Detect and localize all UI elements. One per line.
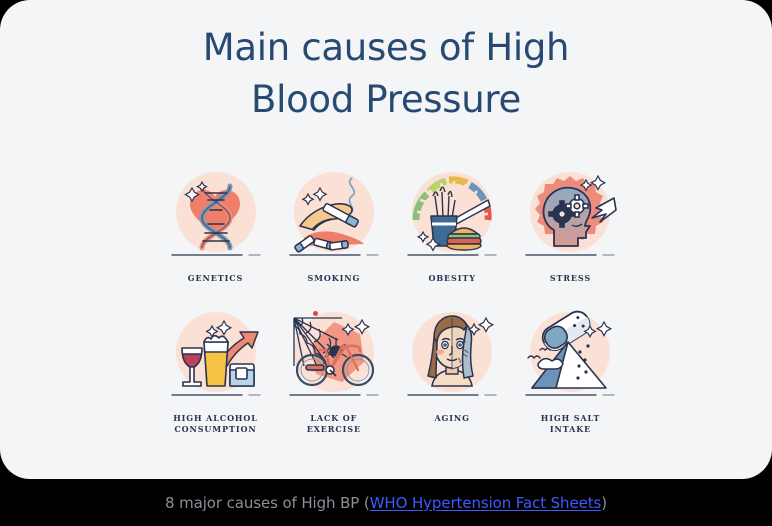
head-gears-bolt-icon <box>522 168 618 264</box>
cause-label: Smoking <box>307 273 360 284</box>
cause-item-smoking[interactable]: Smoking <box>276 168 391 284</box>
cause-label: Obesity <box>429 273 476 284</box>
split-face-age-icon <box>404 308 500 404</box>
causes-row-1: Genetics <box>158 168 628 284</box>
caption-suffix: ) <box>601 494 607 512</box>
caption-prefix: 8 major causes of High BP ( <box>165 494 370 512</box>
ground-line <box>406 391 498 400</box>
cause-item-stress[interactable]: Stress <box>513 168 628 284</box>
dna-heart-icon <box>168 168 264 264</box>
cause-label: High Alcohol Consumption <box>173 413 258 435</box>
ground-line <box>406 251 498 260</box>
cause-item-genetics[interactable]: Genetics <box>158 168 273 284</box>
caption-link[interactable]: WHO Hypertension Fact Sheets <box>370 494 602 512</box>
causes-grid: Genetics <box>158 168 628 435</box>
gauge-fastfood-icon <box>404 168 500 264</box>
salt-shaker-mountain-icon <box>522 308 618 404</box>
ground-line <box>288 391 380 400</box>
cause-item-high-alcohol-consumption[interactable]: High Alcohol Consumption <box>158 308 273 435</box>
ground-line <box>524 251 616 260</box>
cause-label: Lack of Exercise <box>307 413 361 435</box>
infographic-root: Main causes of High Blood Pressure <box>0 0 772 526</box>
cause-item-aging[interactable]: Aging <box>395 308 510 435</box>
ground-line <box>288 251 380 260</box>
causes-row-2: High Alcohol Consumption <box>158 308 628 435</box>
infographic-card: Main causes of High Blood Pressure <box>0 0 772 479</box>
caption: 8 major causes of High BP (WHO Hypertens… <box>0 479 772 526</box>
title-line-1: Main causes of High <box>0 22 772 74</box>
cause-label: Aging <box>434 413 469 424</box>
title-line-2: Blood Pressure <box>0 74 772 126</box>
ground-line <box>524 391 616 400</box>
red-dot-marker <box>313 311 318 316</box>
cause-label: Genetics <box>188 273 243 284</box>
cause-label: Stress <box>550 273 591 284</box>
page-title: Main causes of High Blood Pressure <box>0 22 772 126</box>
bicycle-cobweb-icon <box>286 308 382 404</box>
ground-line <box>170 391 262 400</box>
cause-item-obesity[interactable]: Obesity <box>395 168 510 284</box>
ground-line <box>170 251 262 260</box>
hand-cigarette-icon <box>286 168 382 264</box>
cause-label: High Salt Intake <box>541 413 601 435</box>
cause-item-lack-of-exercise[interactable]: Lack of Exercise <box>276 308 391 435</box>
cause-item-high-salt-intake[interactable]: High Salt Intake <box>513 308 628 435</box>
drinks-arrow-icon <box>168 308 264 404</box>
